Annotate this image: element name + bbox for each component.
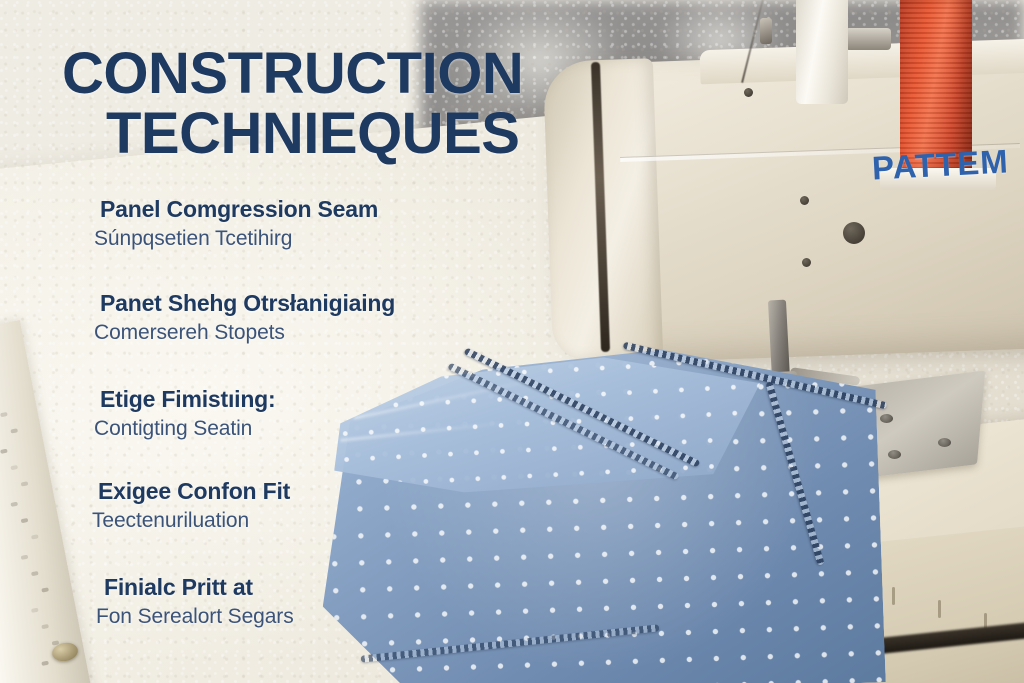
text-overlay: CONSTRUCTION TECHNIEQUES Panel Comgressi… xyxy=(0,0,1024,683)
page-title-line-1: CONSTRUCTION xyxy=(62,41,523,106)
technique-heading: Panel Comgression Seam xyxy=(100,196,620,223)
list-item: Panel Comgression Seam Súnpqsetien Tceti… xyxy=(0,196,620,251)
technique-heading: Panet Shehg Otrsłanigiaing xyxy=(100,290,620,317)
technique-heading: Etige Fimistıing: xyxy=(100,386,620,413)
technique-subtext: Teectenuriluation xyxy=(92,509,618,533)
page-title: CONSTRUCTION TECHNIEQUES xyxy=(62,44,702,165)
list-item: Finialc Pritt at Fon Serealort Segars xyxy=(0,574,624,629)
technique-subtext: Fon Serealort Segars xyxy=(96,605,624,629)
page-title-line-2: TECHNIEQUES xyxy=(62,104,702,164)
technique-heading: Finialc Pritt at xyxy=(104,574,624,601)
technique-subtext: Contiɡting Seatin xyxy=(94,417,620,441)
machine-brand-label: PATTEM xyxy=(871,142,1010,187)
technique-heading: Exigee Confon Fit xyxy=(98,478,618,505)
list-item: Etige Fimistıing: Contiɡting Seatin xyxy=(0,386,620,441)
technique-subtext: Súnpqsetien Tcetihirg xyxy=(94,227,620,251)
list-item: Panet Shehg Otrsłanigiaing Comersereh St… xyxy=(0,290,620,345)
list-item: Exigee Confon Fit Teectenuriluation xyxy=(0,478,618,533)
technique-subtext: Comersereh Stopets xyxy=(94,321,620,345)
poster-canvas: CONSTRUCTION TECHNIEQUES Panel Comgressi… xyxy=(0,0,1024,683)
